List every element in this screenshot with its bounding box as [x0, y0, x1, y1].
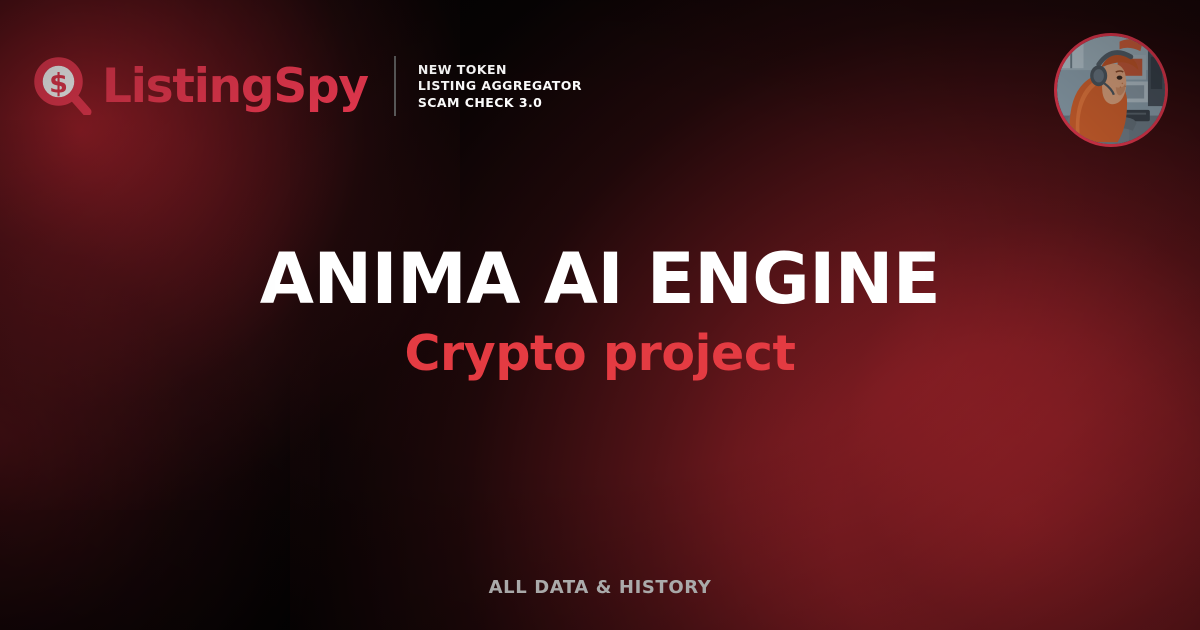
tagline-line-1: NEW TOKEN — [418, 63, 582, 77]
magnifier-dollar-icon: $ — [34, 57, 92, 115]
avatar-illustration — [1057, 36, 1165, 144]
banner-main-content: ANIMA AI ENGINE Crypto project — [0, 243, 1200, 381]
tagline-line-3: SCAM CHECK 3.0 — [418, 96, 582, 110]
brand-wordmark: ListingSpy — [102, 63, 368, 110]
page-title: ANIMA AI ENGINE — [60, 243, 1140, 316]
brand-logo[interactable]: $ ListingSpy — [34, 57, 368, 115]
page-subtitle: Crypto project — [60, 328, 1140, 381]
brand-tagline: NEW TOKEN LISTING AGGREGATOR SCAM CHECK … — [418, 63, 582, 110]
background-glow-right-edge — [740, 150, 1200, 630]
promo-banner: $ ListingSpy NEW TOKEN LISTING AGGREGATO… — [0, 0, 1200, 630]
header-divider — [394, 56, 396, 116]
svg-text:$: $ — [49, 69, 68, 100]
footer-caption: ALL DATA & HISTORY — [0, 577, 1200, 598]
avatar[interactable] — [1054, 33, 1168, 147]
tagline-line-2: LISTING AGGREGATOR — [418, 79, 582, 93]
banner-header: $ ListingSpy NEW TOKEN LISTING AGGREGATO… — [34, 50, 582, 122]
